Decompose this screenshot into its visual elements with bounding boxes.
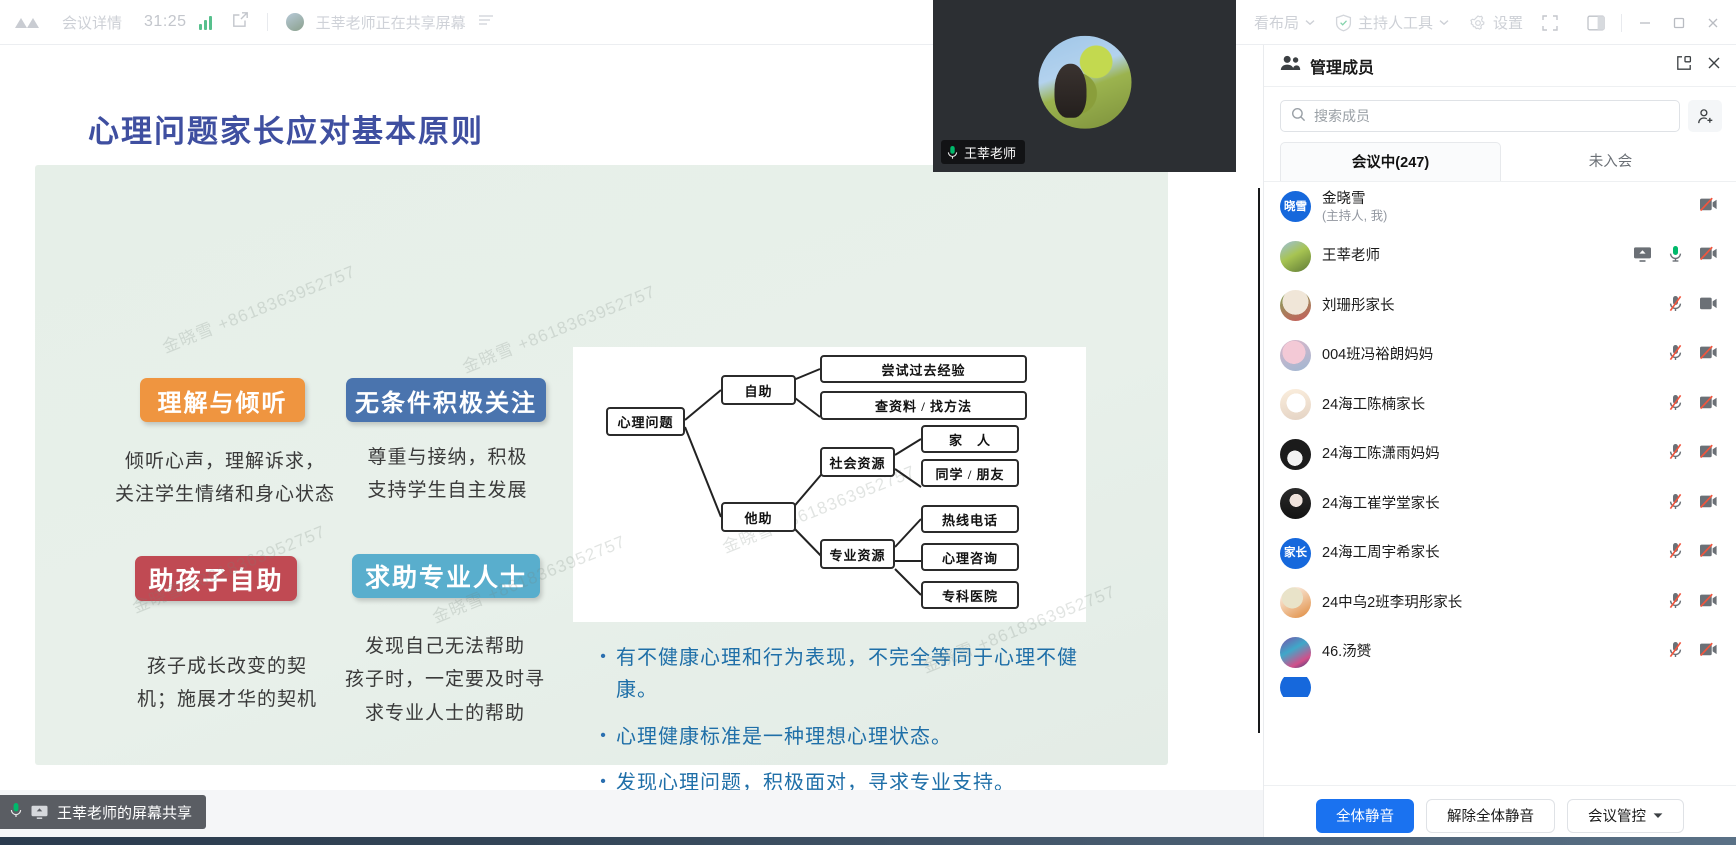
avatar [1280,241,1311,272]
card-text-understanding: 倾听心声，理解诉求， 关注学生情绪和身心状态 [95,445,355,512]
camera-off-icon[interactable] [1699,543,1718,563]
meeting-detail-label[interactable]: 会议详情 [52,8,132,37]
side-panel-icon[interactable] [1581,8,1611,38]
bullet-text-3: 发现心理问题，积极面对，寻求专业支持。 [616,767,1015,790]
participant-name: 24海工陈潇雨妈妈 [1322,445,1440,463]
self-video-thumbnail[interactable]: 王莘老师 [933,0,1236,172]
minimize-icon[interactable] [1628,0,1662,45]
mic-off-icon[interactable] [1669,443,1682,465]
slide-body: 理解与倾听 无条件积极关注 助孩子自助 求助专业人士 倾听心声，理解诉求， 关注… [35,165,1168,765]
card-text-positive-regard: 尊重与接纳，积极 支持学生自主发展 [340,441,555,508]
mic-off-icon[interactable] [1669,344,1682,366]
gear-icon [1469,14,1487,32]
host-tools-button[interactable]: 主持人工具 [1325,8,1459,37]
sharer-avatar [286,13,304,31]
panel-header: 管理成员 [1264,45,1736,87]
popout-window-icon[interactable] [232,11,249,33]
participant-name: 004班冯裕朗妈妈 [1322,346,1433,364]
mic-off-icon[interactable] [1669,641,1682,663]
list-item[interactable] [1264,677,1736,697]
panel-tabs: 会议中(247) 未入会 [1264,142,1736,182]
mute-all-button[interactable]: 全体静音 [1316,799,1414,833]
video-name-text: 王莘老师 [964,143,1016,162]
participant-name: 王莘老师 [1322,247,1380,265]
meeting-timer: 31:25 [144,13,187,31]
close-icon[interactable] [1696,0,1730,45]
camera-off-icon[interactable] [1699,197,1718,217]
bullet-dot-icon: • [590,642,616,672]
mindmap-node-professional-resources: 专业资源 [820,539,895,569]
mindmap-leaf-family: 家 人 [921,425,1019,453]
mic-off-icon[interactable] [1669,493,1682,515]
maximize-icon[interactable] [1662,0,1696,45]
slide-title: 心理问题家长应对基本原则 [88,106,484,151]
participant-name: 24海工周宇希家长 [1322,544,1440,562]
avatar [1280,637,1311,668]
settings-button[interactable]: 设置 [1459,8,1533,37]
avatar [1280,488,1311,519]
card-label-self-help: 助孩子自助 [135,556,297,601]
card-label-understanding: 理解与倾听 [140,378,305,422]
participant-list[interactable]: 晓雪 金晓雪 (主持人, 我) 王莘老师 [1264,182,1736,785]
participant-actions [1669,295,1718,317]
avatar [1280,340,1311,371]
participant-name: 刘珊彤家长 [1322,297,1395,315]
avatar [1038,36,1131,129]
participant-name: 24海工陈楠家长 [1322,396,1425,414]
mic-off-icon[interactable] [1669,394,1682,416]
list-item[interactable]: 家长 24海工周宇希家长 [1264,529,1736,579]
participant-info: 24海工崔学堂家长 [1322,495,1440,513]
mindmap-leaf-hotline: 热线电话 [921,505,1019,533]
participant-name: 24海工崔学堂家长 [1322,495,1440,513]
panel-title: 管理成员 [1280,54,1374,78]
participant-info: 46.汤赟 [1322,643,1371,661]
toolbar-right-group: 看布局 主持人工具 设置 [1244,0,1736,45]
avatar [1280,439,1311,470]
participant-actions [1669,493,1718,515]
participant-actions [1669,344,1718,366]
mic-off-icon[interactable] [1669,592,1682,614]
participant-actions [1669,443,1718,465]
chevron-down-icon [1305,19,1315,26]
settings-label: 设置 [1493,12,1523,33]
list-item[interactable]: 24海工陈楠家长 [1264,380,1736,430]
close-icon[interactable] [1706,55,1722,76]
scroll-cursor [1258,188,1260,733]
camera-off-icon[interactable] [1699,345,1718,365]
mindmap-node-other-help: 他助 [721,502,796,532]
participant-info: 刘珊彤家长 [1322,297,1395,315]
avatar: 晓雪 [1280,191,1311,222]
video-name-badge: 王莘老师 [941,140,1025,164]
chevron-down-icon [1439,19,1449,26]
card-text-seek-professional: 发现自己无法帮助 孩子时，一定要及时寻 求专业人士的帮助 [335,630,555,730]
mindmap-node-self-help: 自助 [721,375,796,405]
list-item: • 心理健康标准是一种理想心理状态。 [590,721,1090,753]
layout-button[interactable]: 看布局 [1244,8,1325,37]
chevron-down-icon [1653,812,1663,819]
participant-actions [1699,197,1718,217]
search-input[interactable]: 搜索成员 [1280,100,1680,132]
meeting-logo-icon [14,15,40,30]
fullscreen-icon[interactable] [1533,0,1567,45]
panel-search-row: 搜索成员 [1264,87,1736,142]
list-item[interactable]: 王莘老师 [1264,232,1736,282]
meeting-control-button[interactable]: 会议管控 [1567,799,1684,833]
camera-off-icon[interactable] [1699,395,1718,415]
slide-bullet-list: • 有不健康心理和行为表现，不完全等同于心理不健康。 • 心理健康标准是一种理想… [590,642,1090,790]
host-tools-label: 主持人工具 [1358,12,1433,33]
search-placeholder-text: 搜索成员 [1314,106,1370,126]
mic-on-icon [10,802,22,822]
participant-name: 金晓雪 [1322,190,1387,208]
layout-label: 看布局 [1254,12,1299,33]
signal-bars-icon [199,14,212,30]
participant-actions [1669,641,1718,663]
mindmap-node-social-resources: 社会资源 [820,447,895,477]
meeting-window: 会议详情 31:25 王莘老师正在共享屏幕 看布局 [0,0,1736,845]
avatar [1280,587,1311,618]
participant-info: 24中乌2班李玥彤家长 [1322,594,1462,612]
panel-title-text: 管理成员 [1310,54,1374,78]
camera-on-icon[interactable] [1699,296,1718,316]
meeting-control-label: 会议管控 [1588,805,1646,826]
mindmap-leaf-past-experience: 尝试过去经验 [820,355,1027,383]
participant-name: 24中乌2班李玥彤家长 [1322,594,1462,612]
panel-footer: 全体静音 解除全体静音 会议管控 [1264,785,1736,845]
mindmap-diagram: 心理问题 自助 他助 尝试过去经验 查资料 / 找方法 社会资源 家 人 同学 … [573,347,1086,622]
tab-not-joined[interactable]: 未入会 [1501,142,1720,181]
card-text-self-help: 孩子成长改变的契 机；施展才华的契机 [107,650,347,717]
popout-panel-icon[interactable] [1676,55,1692,76]
window-controls [1628,0,1730,45]
participant-actions [1669,542,1718,564]
screen-share-icon[interactable] [1633,246,1652,267]
mic-on-icon[interactable] [1669,245,1682,267]
participant-actions [1669,592,1718,614]
mindmap-leaf-counseling: 心理咨询 [921,543,1019,571]
participant-info: 王莘老师 [1322,247,1380,265]
watermark: 金晓雪 +8618363952757 [158,257,359,358]
people-icon [1280,55,1301,76]
screen-share-status-chip[interactable]: 王莘老师的屏幕共享 [0,795,206,829]
top-toolbar: 会议详情 31:25 王莘老师正在共享屏幕 看布局 [0,0,1736,45]
participant-actions [1633,245,1718,267]
list-item[interactable]: 004班冯裕朗妈妈 [1264,331,1736,381]
camera-off-icon[interactable] [1699,444,1718,464]
bullet-text-2: 心理健康标准是一种理想心理状态。 [616,721,952,753]
list-menu-icon[interactable] [478,13,494,31]
toolbar-left-group: 会议详情 31:25 王莘老师正在共享屏幕 [0,8,494,37]
mindmap-node-root: 心理问题 [606,407,685,436]
participant-info: 004班冯裕朗妈妈 [1322,346,1433,364]
mic-off-icon[interactable] [1669,295,1682,317]
bullet-dot-icon: • [590,721,616,751]
screen-share-icon [31,805,48,819]
avatar [1280,677,1311,697]
camera-off-icon[interactable] [1699,246,1718,266]
sharing-status-text: 王莘老师正在共享屏幕 [316,12,466,33]
list-item[interactable]: 晓雪 金晓雪 (主持人, 我) [1264,182,1736,232]
list-item[interactable]: 24中乌2班李玥彤家长 [1264,578,1736,628]
search-icon [1291,107,1306,125]
participant-role: (主持人, 我) [1322,208,1387,224]
mindmap-leaf-research-methods: 查资料 / 找方法 [820,391,1027,420]
avatar [1280,290,1311,321]
participant-info: 金晓雪 (主持人, 我) [1322,190,1387,224]
bullet-text-1: 有不健康心理和行为表现，不完全等同于心理不健康。 [616,642,1090,707]
participant-info: 24海工陈楠家长 [1322,396,1425,414]
mindmap-leaf-classmates-friends: 同学 / 朋友 [921,459,1019,487]
mindmap-leaf-hospital: 专科医院 [921,581,1019,609]
camera-off-icon[interactable] [1699,593,1718,613]
tab-in-meeting[interactable]: 会议中(247) [1280,142,1501,181]
toolbar-divider [267,13,268,31]
participant-info: 24海工陈潇雨妈妈 [1322,445,1440,463]
window-controls-divider [1621,14,1622,32]
panel-header-actions [1676,55,1722,76]
unmute-all-button[interactable]: 解除全体静音 [1426,799,1555,833]
camera-off-icon[interactable] [1699,494,1718,514]
add-person-icon[interactable] [1688,100,1722,132]
participant-actions [1669,394,1718,416]
list-item[interactable]: 46.汤赟 [1264,628,1736,678]
mic-off-icon[interactable] [1669,542,1682,564]
screen-share-status-text: 王莘老师的屏幕共享 [57,802,192,823]
mic-on-icon [947,145,958,160]
os-taskbar [0,837,1736,845]
list-item: • 发现心理问题，积极面对，寻求专业支持。 [590,767,1090,790]
card-label-positive-regard: 无条件积极关注 [346,378,546,422]
card-label-seek-professional: 求助专业人士 [352,554,540,598]
participants-panel: 管理成员 搜索成员 [1263,45,1736,845]
list-item[interactable]: 24海工陈潇雨妈妈 [1264,430,1736,480]
participant-name: 46.汤赟 [1322,643,1371,661]
list-item[interactable]: 24海工崔学堂家长 [1264,479,1736,529]
avatar [1280,389,1311,420]
bullet-dot-icon: • [590,767,616,790]
participant-info: 24海工周宇希家长 [1322,544,1440,562]
list-item: • 有不健康心理和行为表现，不完全等同于心理不健康。 [590,642,1090,707]
avatar: 家长 [1280,538,1311,569]
camera-off-icon[interactable] [1699,642,1718,662]
list-item[interactable]: 刘珊彤家长 [1264,281,1736,331]
shield-check-icon [1335,14,1352,32]
